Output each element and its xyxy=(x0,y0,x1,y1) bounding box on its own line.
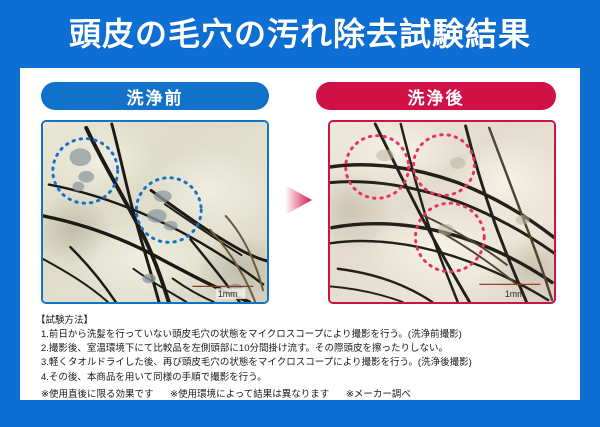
before-label-chip: 洗浄前 xyxy=(41,82,269,110)
before-photo-graphic: 1mm xyxy=(43,122,267,302)
method-step-2: 2.撮影後、室温環境下にて比較品を左側頭部に10分間掛け流す。その際頭皮を擦った… xyxy=(36,342,570,356)
method-step-3: 3.軽くタオルドライした後、再び頭皮毛穴の状態をマイクロスコープにより撮影を行う… xyxy=(36,356,570,370)
title-bar: 頭皮の毛穴の汚れ除去試験結果 xyxy=(0,0,600,68)
page-title: 頭皮の毛穴の汚れ除去試験結果 xyxy=(69,18,531,50)
before-scale-bar-label: 1mm xyxy=(218,289,238,299)
footnotes: ※使用直後に限る効果です ※使用環境によって結果は異なります ※メーカー調べ xyxy=(41,386,425,400)
before-label-text: 洗浄前 xyxy=(127,84,184,109)
right-arrow-icon xyxy=(283,183,313,217)
before-microscope-photo: 1mm xyxy=(41,120,269,304)
method-step-4: 4.その後、本商品を用いて同様の手順で撮影を行う。 xyxy=(36,371,570,385)
footnote-1: ※使用直後に限る効果です xyxy=(41,389,153,400)
test-method-block: 【試験方法】 1.前日から洗髪を行っていない頭皮毛穴の状態をマイクロスコープによ… xyxy=(36,314,570,385)
after-microscope-photo: 1mm xyxy=(328,120,556,304)
content-panel: 洗浄前 洗浄後 xyxy=(20,68,580,400)
after-label-chip: 洗浄後 xyxy=(316,82,556,110)
comparison-labels-row: 洗浄前 洗浄後 xyxy=(20,82,580,112)
after-scale-bar-label: 1mm xyxy=(505,289,525,299)
after-photo-graphic: 1mm xyxy=(330,122,554,302)
method-step-1: 1.前日から洗髪を行っていない頭皮毛穴の状態をマイクロスコープにより撮影を行う。… xyxy=(36,328,570,342)
transition-arrow xyxy=(283,183,313,217)
footnote-3: ※メーカー調べ xyxy=(346,389,411,400)
footnote-2: ※使用環境によって結果は異なります xyxy=(170,389,329,400)
after-label-text: 洗浄後 xyxy=(408,84,465,109)
method-heading: 【試験方法】 xyxy=(36,314,570,328)
